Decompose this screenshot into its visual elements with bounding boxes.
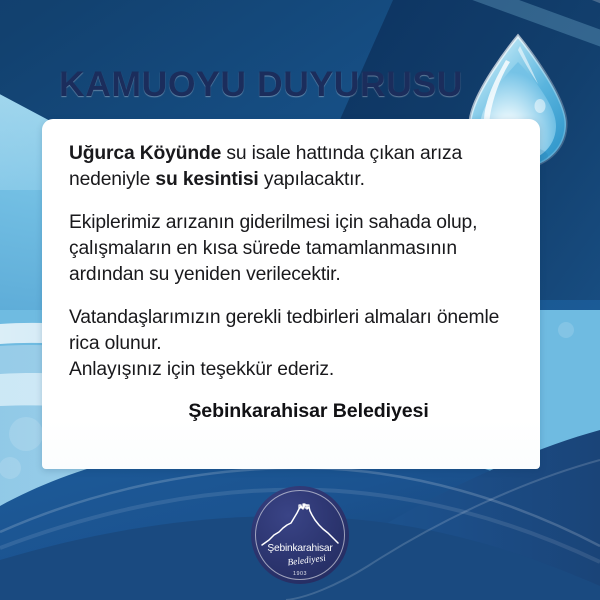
logo-disc: [251, 486, 349, 584]
page-title: KAMUOYU DUYURUSU: [0, 64, 600, 105]
paragraph-1-bold-subject: su kesintisi: [155, 169, 258, 190]
signature: Şebinkarahisar Belediyesi: [69, 400, 514, 423]
logo-year: 1903: [293, 571, 307, 577]
announcement-card: Uğurca Köyünde su isale hattında çıkan a…: [42, 119, 540, 469]
announcement-paragraph-3: Vatandaşlarımızın gerekli tedbirleri alm…: [69, 305, 514, 383]
paragraph-3-line-3: Anlayışınız için teşekkür ederiz.: [69, 359, 334, 380]
announcement-poster: KAMUOYU DUYURUSU Uğurca Köyünde su isale…: [0, 0, 600, 600]
municipality-logo: Şebinkarahisar Belediyesi 1903: [250, 485, 350, 585]
announcement-paragraph-1: Uğurca Köyünde su isale hattında çıkan a…: [69, 141, 514, 193]
paragraph-3-line-1: Vatandaşlarımızın gerekli tedbirleri alm…: [69, 307, 432, 328]
paragraph-1-text-b: yapılacaktır.: [259, 169, 365, 190]
paragraph-1-bold-location: Uğurca Köyünde: [69, 143, 221, 164]
logo-name: Şebinkarahisar: [267, 543, 333, 554]
announcement-paragraph-2: Ekiplerimiz arızanın giderilmesi için sa…: [69, 210, 514, 288]
